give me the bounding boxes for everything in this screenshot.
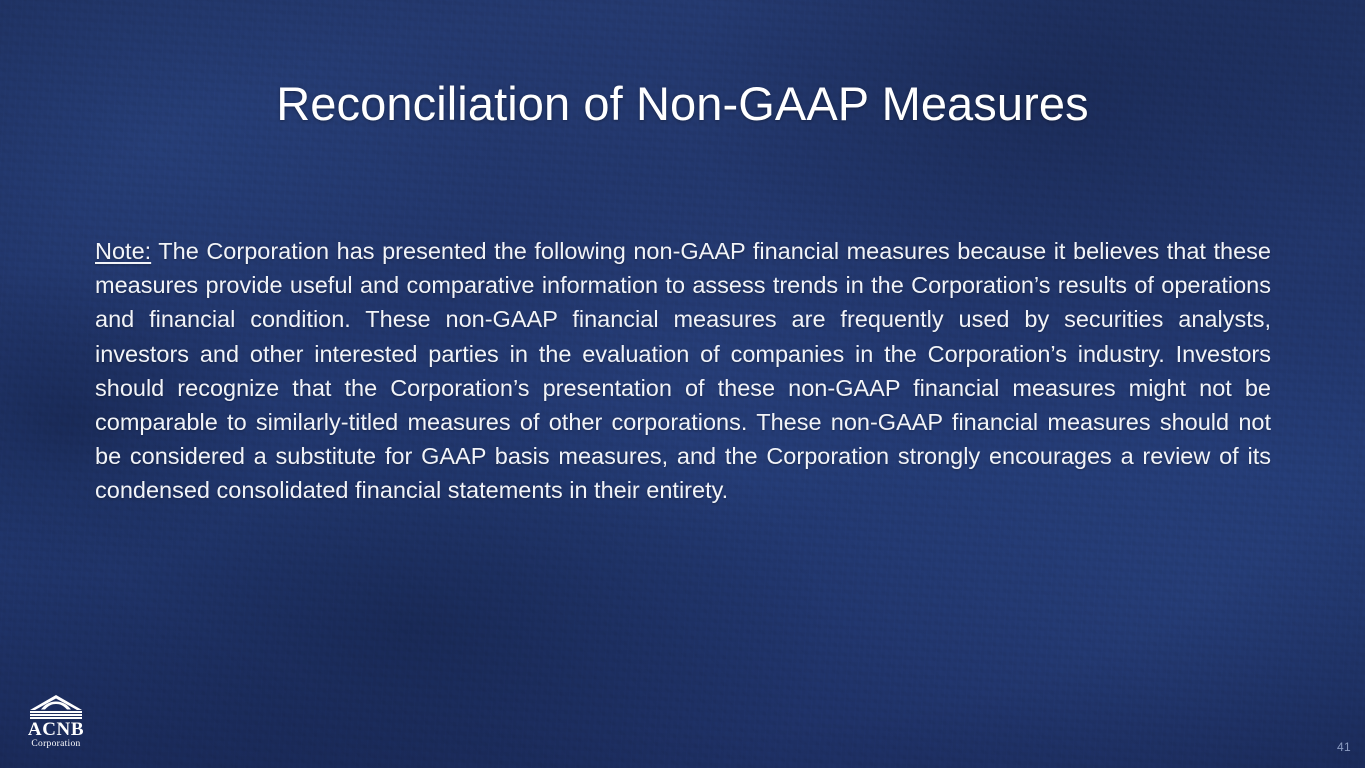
presentation-slide: Reconciliation of Non-GAAP Measures Note… <box>0 0 1365 768</box>
acnb-wordmark: ACNB <box>20 720 92 739</box>
acnb-building-pediment-icon <box>28 693 84 719</box>
slide-title: Reconciliation of Non-GAAP Measures <box>0 78 1365 131</box>
note-paragraph: Note: The Corporation has presented the … <box>95 234 1271 508</box>
slide-body-text: Note: The Corporation has presented the … <box>95 234 1271 508</box>
note-body: The Corporation has presented the follow… <box>95 238 1271 503</box>
acnb-corporation-logo: ACNB Corporation <box>20 693 92 750</box>
slide-page-number: 41 <box>1337 740 1351 754</box>
acnb-subtitle: Corporation <box>20 739 92 750</box>
note-label: Note: <box>95 238 151 264</box>
